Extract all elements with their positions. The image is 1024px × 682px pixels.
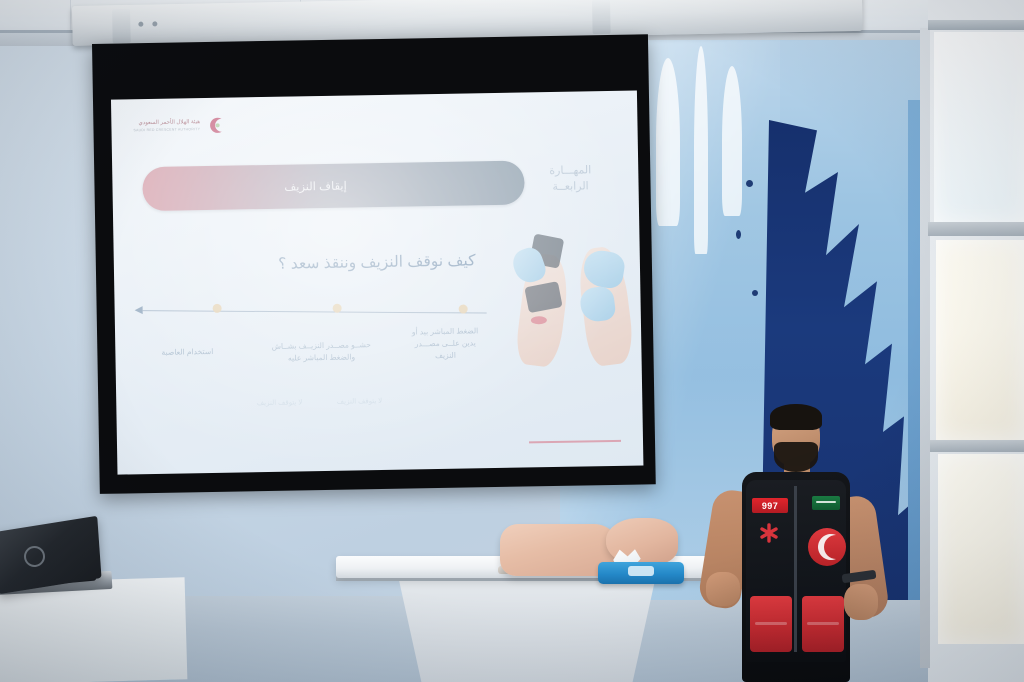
screen-bracket	[592, 0, 611, 34]
training-room-photo: هيئة الهلال الأحمر السعودي SAUDI RED CRE…	[0, 0, 1024, 682]
direct-pressure-illustration	[515, 229, 635, 369]
steps-list: الضغط المباشر بيد أو يدين علــى مصـــدر …	[129, 321, 492, 413]
step-line: استخدام العاصبة	[135, 345, 239, 359]
screen-screw	[138, 22, 143, 27]
steps-timeline	[133, 299, 489, 319]
banner-navy-speck	[736, 230, 741, 239]
srca-logo-text: هيئة الهلال الأحمر السعودي SAUDI RED CRE…	[133, 119, 200, 132]
srca-logo-arabic: هيئة الهلال الأحمر السعودي	[138, 119, 200, 126]
timeline-dot	[333, 304, 342, 313]
projection-screen: هيئة الهلال الأحمر السعودي SAUDI RED CRE…	[92, 34, 656, 494]
substep-label: لا يتوقف النزيف	[257, 398, 303, 407]
red-crescent-icon	[206, 115, 225, 134]
screen-bracket	[112, 9, 131, 43]
window-pane	[936, 240, 1024, 440]
step-item: حشــو مصــدر النزيــف بشــاش والضغط المب…	[257, 339, 385, 366]
vest-pocket	[750, 596, 792, 652]
timeline-line	[143, 310, 487, 314]
timeline-dot	[213, 304, 222, 313]
presenter: 997	[690, 400, 890, 682]
emergency-number-text: 997	[762, 501, 778, 511]
step-line: والضغط المباشر عليه	[257, 351, 385, 365]
window-frame	[928, 20, 1024, 30]
slide-accent-rule	[529, 440, 621, 443]
vest-pocket	[802, 596, 844, 652]
timeline-dot	[459, 304, 468, 313]
timeline-arrow-icon	[135, 306, 143, 314]
window-mullion	[920, 28, 930, 668]
emergency-number-badge: 997	[752, 498, 788, 513]
vest-zipper	[794, 486, 797, 652]
step-item: الضغط المباشر بيد أو يدين علــى مصـــدر …	[399, 325, 492, 363]
saudi-flag-patch-icon	[812, 496, 840, 510]
skill-label: المهـــارة الرابعــة	[524, 163, 617, 196]
step-item: استخدام العاصبة	[135, 345, 239, 359]
wet-wipes-lid	[628, 566, 654, 576]
screen-screw	[152, 21, 157, 26]
slide-question-text: كيف نوقف النزيف وننقذ سعد ؟	[278, 252, 476, 272]
presenter-right-hand	[844, 584, 878, 620]
window-frame	[928, 222, 1024, 236]
skill-label-line2: الرابعــة	[524, 179, 616, 197]
banner-white-brushstroke	[722, 66, 742, 216]
presenter-beard	[774, 442, 818, 472]
slide-title-banner: إيقاف النزيف	[142, 160, 525, 211]
srca-logo-english: SAUDI RED CRESCENT AUTHORITY	[133, 127, 200, 132]
banner-white-brushstroke	[656, 58, 680, 226]
presentation-slide: هيئة الهلال الأحمر السعودي SAUDI RED CRE…	[111, 90, 643, 474]
step-line: النزيف	[399, 349, 491, 363]
substep-label: لا يتوقف النزيف	[337, 397, 383, 406]
window-pane	[934, 32, 1024, 222]
banner-white-brushstroke	[694, 46, 708, 254]
banner-navy-speck	[752, 290, 758, 296]
skill-label-line1: المهـــارة	[524, 163, 616, 181]
red-crescent-patch-icon	[808, 528, 846, 566]
window-frame	[930, 440, 1024, 452]
presenter-left-hand	[706, 572, 740, 606]
slide-title-text: إيقاف النزيف	[284, 179, 347, 194]
banner-navy-speck	[746, 180, 753, 187]
window-pane	[938, 454, 1024, 644]
star-of-life-icon	[758, 522, 780, 544]
ceiling-panel	[0, 0, 71, 30]
srca-logo: هيئة الهلال الأحمر السعودي SAUDI RED CRE…	[133, 111, 243, 139]
presenter-hair	[770, 404, 822, 430]
